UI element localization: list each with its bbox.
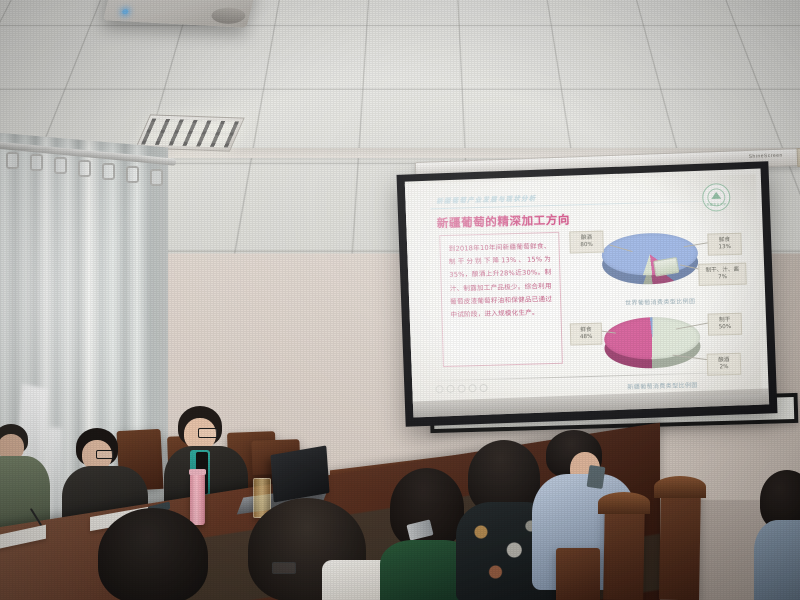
footer-dot-icon: [457, 384, 465, 392]
pie-2-graphic: [604, 316, 701, 371]
pie-2-value-dried: 50%: [719, 324, 732, 330]
projected-slide-image: 新疆葡萄产业发展与现状分析 新疆农业大学 新疆葡萄的精深加工方向 到2018年1…: [405, 174, 762, 404]
pie-1-callout-fresh: 鲜食 13%: [707, 233, 742, 256]
tumbler-lid: [189, 469, 206, 475]
chair[interactable]: [659, 484, 701, 600]
pie-chart-xinjiang-consumption: 鲜食 48% 制干 50% 酿酒 2% 新疆葡萄: [571, 309, 751, 392]
slide-title: 新疆葡萄的精深加工方向: [437, 211, 571, 231]
logo-mountain-mark: [711, 192, 721, 199]
curtain-ring: [150, 169, 163, 186]
pie-1-label-wine: 酿酒: [581, 234, 592, 240]
footer-dot-icon: [435, 385, 443, 393]
screen-housing-end-cap: [797, 148, 800, 168]
logo-caption: 新疆农业大学: [707, 202, 727, 207]
curtain-ring: [6, 152, 19, 169]
pie-2-callout-fresh: 鲜食 48%: [570, 323, 603, 346]
hair: [98, 508, 208, 600]
footer-dot-icon: [446, 385, 454, 393]
pie-1-value-wine: 80%: [580, 242, 593, 248]
eyeglasses: [198, 428, 218, 438]
slide-body-textbox: 到2018年10年间新疆葡萄鲜食、制干分别下降13%、15%为35%，酿酒上升2…: [439, 232, 563, 367]
pie-2-value-wine: 2%: [720, 364, 729, 370]
torso: [754, 520, 800, 600]
pie-1-callout-wine: 酿酒 80%: [569, 231, 604, 254]
pie-2-callout-dried: 制干 50%: [708, 313, 743, 336]
pie-chart-world-consumption: 酿酒 80% 鲜食 13% 制干、汁、酱 7%: [569, 225, 749, 308]
meeting-room-photo: ShineScreen 新疆葡萄产业发展与现状分析 新疆农业大学 新疆葡萄的精深…: [0, 0, 800, 600]
curtain-daylight-gap-secondary: [48, 427, 62, 518]
chair[interactable]: [556, 548, 600, 600]
chair-backrest: [598, 492, 650, 514]
light-louver-grill: [141, 118, 239, 147]
slide-eyebrow-text: 新疆葡萄产业发展与现状分析: [436, 192, 536, 205]
pie-2-value-fresh: 48%: [580, 334, 593, 340]
laptop-screen[interactable]: [270, 445, 329, 502]
projection-screen[interactable]: 新疆葡萄产业发展与现状分析 新疆农业大学 新疆葡萄的精深加工方向 到2018年1…: [397, 161, 778, 426]
pie-2-label-fresh: 鲜食: [580, 326, 591, 332]
pie-1-graphic: [601, 232, 698, 287]
footer-dot-icon: [468, 384, 476, 392]
pie-1-caption: 世界葡萄消费类型比例图: [593, 295, 727, 308]
curtain-ring: [102, 163, 115, 180]
slide-footer-dots: [435, 384, 487, 393]
pie-2-label-wine: 酿酒: [718, 357, 729, 363]
pie-1-value-fresh: 13%: [718, 244, 731, 250]
university-logo-icon: 新疆农业大学: [702, 183, 731, 212]
screen-brand-label: ShineScreen: [749, 153, 783, 160]
pie-1-callout-dried: 制干、汁、酱 7%: [698, 263, 747, 287]
footer-dot-icon: [479, 384, 487, 392]
eyeglasses: [96, 450, 114, 459]
pie-2-label-dried: 制干: [719, 317, 730, 323]
projection-screen-surface: 新疆葡萄产业发展与现状分析 新疆农业大学 新疆葡萄的精深加工方向 到2018年1…: [405, 169, 769, 418]
projector-lens: [210, 7, 248, 25]
curtain-ring: [126, 166, 139, 183]
curtain-ring: [78, 160, 91, 177]
slide-body-text: 到2018年10年间新疆葡萄鲜食、制干分别下降13%、15%为35%，酿酒上升2…: [448, 240, 552, 322]
pie-1-value-dried: 7%: [718, 274, 727, 280]
pie-1-label-dried: 制干、汁、酱: [705, 266, 739, 273]
curtain-ring: [54, 157, 67, 174]
chair[interactable]: [603, 500, 645, 600]
pie-1-label-fresh: 鲜食: [719, 237, 730, 243]
projector-power-led: [122, 9, 129, 14]
chair-backrest: [654, 476, 706, 498]
presentation-slide: 新疆葡萄产业发展与现状分析 新疆农业大学 新疆葡萄的精深加工方向 到2018年1…: [410, 180, 754, 395]
pink-tumbler[interactable]: [190, 473, 205, 525]
smartphone-held[interactable]: [587, 465, 606, 489]
eyeglasses: [272, 562, 296, 574]
curtain-ring: [30, 154, 43, 171]
